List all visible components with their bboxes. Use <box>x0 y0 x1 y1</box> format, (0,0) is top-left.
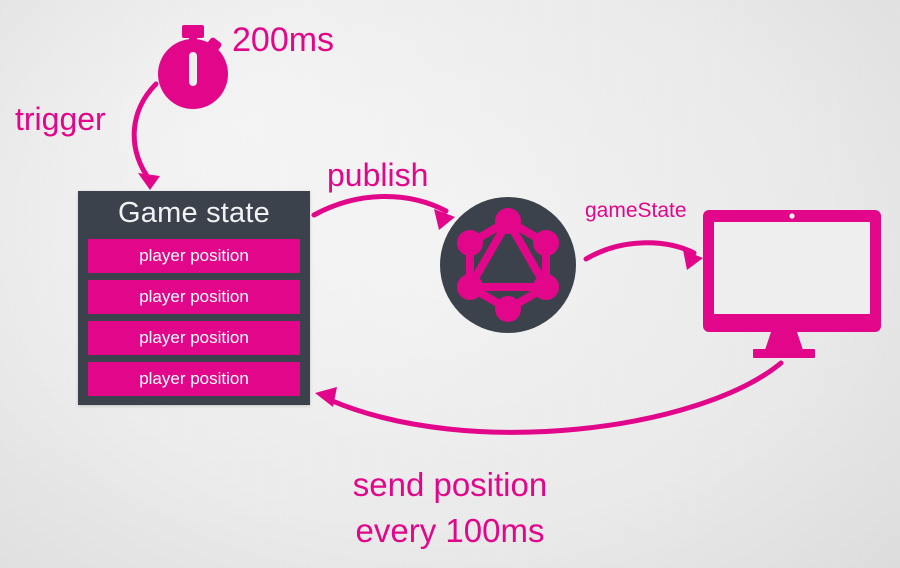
diagram-canvas: Game state player position player positi… <box>0 0 900 568</box>
timer-interval-label: 200ms <box>232 21 334 60</box>
list-item: player position <box>88 239 300 273</box>
list-item: player position <box>88 321 300 355</box>
trigger-arrow <box>134 84 160 190</box>
send-position-arrow <box>315 363 781 432</box>
player-position-list: player position player position player p… <box>88 239 300 396</box>
list-item: player position <box>88 280 300 314</box>
list-item: player position <box>88 362 300 396</box>
game-state-title: Game state <box>78 193 310 233</box>
publish-arrow <box>314 196 455 230</box>
gamestate-arrow <box>586 243 703 270</box>
send-position-line-2: every 100ms <box>0 508 900 554</box>
gamestate-label: gameState <box>585 199 687 223</box>
game-state-panel: Game state player position player positi… <box>78 191 310 405</box>
trigger-label: trigger <box>15 101 106 138</box>
send-position-label: send position every 100ms <box>0 462 900 554</box>
publish-label: publish <box>327 157 428 194</box>
send-position-line-1: send position <box>0 462 900 508</box>
